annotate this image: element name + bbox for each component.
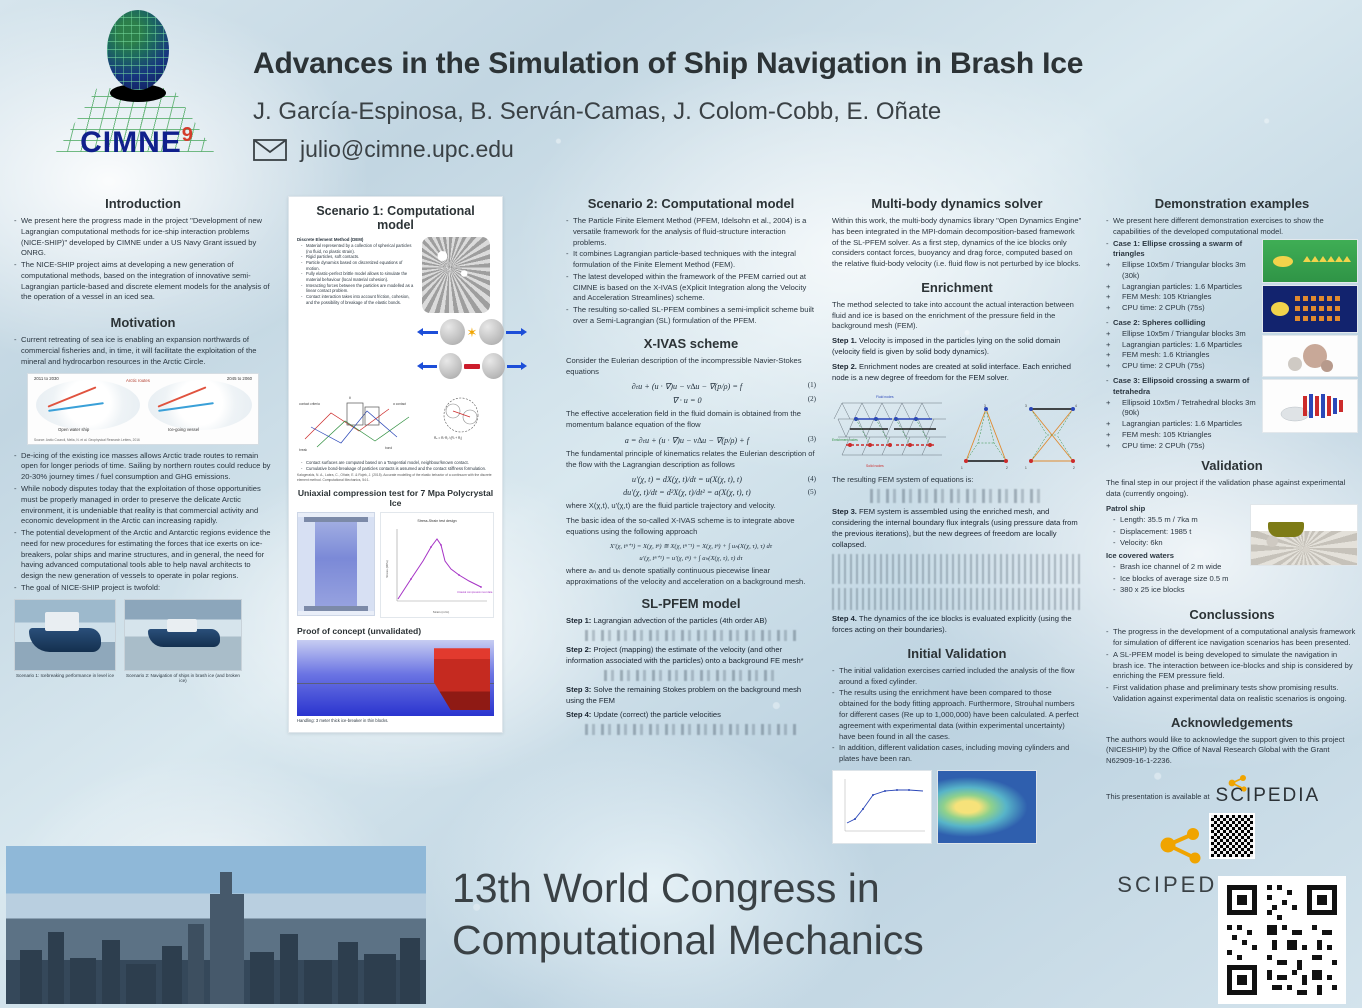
building-shape [102, 940, 120, 1004]
enrichment-mesh-figures: Fluid nodes Enrichment nodes Solid nodes… [832, 389, 1082, 471]
list-item: The NICE-SHIP project aims at developing… [14, 260, 272, 303]
qr-code-large[interactable] [1218, 876, 1346, 1004]
list-item: +FEM mesh: 1.6 Ktriangles [1122, 350, 1256, 361]
slpfem-step-2: Step 2: Project (mapping) the estimate o… [566, 645, 816, 667]
element-enrichment-diagram-b: 3412 [1021, 399, 1082, 471]
list-item: +Ellipse 10x5m / Triangular blocks 3m (3… [1122, 260, 1256, 282]
equation-number: (3) [808, 435, 816, 443]
svg-text:θ: θ [349, 396, 351, 400]
cimne-logo: CIMNE9 [52, 8, 217, 166]
enrichment-step-2: Step 2. Enrichment nodes are created at … [832, 362, 1082, 384]
list-item: A SL-PFEM model is being developed to si… [1106, 650, 1358, 682]
list-item: +Lagrangian particles: 1.6 Mparticles [1122, 419, 1256, 430]
step2-equation-image [604, 670, 779, 681]
svg-text:break: break [299, 448, 307, 452]
map-label-left: 2011 to 2030 [34, 376, 59, 381]
cimne-superscript: 9 [182, 124, 194, 146]
poc-caption: Handling: 3 meter thick ice-breaker in t… [297, 718, 494, 723]
building-shape [338, 942, 358, 1004]
list-item: Velocity: 6kn [1113, 538, 1244, 549]
list-item: The progress in the development of a com… [1106, 627, 1358, 649]
map-label-right: 2045 to 2060 [227, 376, 252, 381]
list-item: Case 1: Ellipse crossing a swarm of tria… [1106, 239, 1256, 314]
validation-intro: The final step in our project if the val… [1106, 478, 1358, 500]
xivas-intro: Consider the Eulerian description of the… [566, 356, 816, 378]
background-mesh-diagram: Fluid nodes Enrichment nodes Solid nodes [832, 389, 951, 471]
validation-group2-items: Brash ice channel of 2 m wide Ice blocks… [1113, 562, 1244, 596]
validation-heading: Validation [1106, 458, 1358, 473]
envelope-icon [253, 138, 287, 162]
congress-title-line1: 13th World Congress in [452, 862, 1152, 914]
list-item: 380 x 25 ice blocks [1113, 585, 1244, 596]
list-item: +CPU time: 2 CPUh (75s) [1122, 303, 1256, 314]
list-item: In addition, different validation cases,… [832, 743, 1082, 765]
text-basic-idea: The basic idea of the so-called X-IVAS s… [566, 516, 816, 538]
fem-system-intro: The resulting FEM system of equations is… [832, 475, 1082, 486]
equation-number: (1) [808, 381, 816, 389]
list-item: Cumulative bond-breakage of particles co… [301, 466, 494, 472]
step4-equation-image [585, 724, 798, 735]
congress-title-line2: Computational Mechanics [452, 914, 1152, 966]
case2-render [1262, 285, 1358, 333]
sphere-icon [482, 353, 505, 379]
enrichment-step-4: Step 4. The dynamics of the ice blocks i… [832, 614, 1082, 636]
contact-diagram-broken [422, 353, 522, 379]
case-items: +Ellipse 10x5m / Triangular blocks 3m +L… [1122, 329, 1256, 372]
equation-3: (3)a = ∂ₜu + (u · ∇)u − ν∆u − ∇(p/ρ) + f [566, 435, 816, 445]
xivas-heading: X-IVAS scheme [566, 336, 816, 351]
enrichment-heading: Enrichment [832, 280, 1082, 295]
step-number: Step 2. [832, 362, 857, 371]
list-item: +Ellipse 10x5m / Triangular blocks 3m [1122, 329, 1256, 340]
dem-contact-bullets: Contact surfaces are computed based on a… [301, 460, 494, 471]
proof-of-concept-image [297, 640, 494, 716]
photo-caption: Scenario 2: Navigation of ships in brash… [124, 673, 242, 684]
equation-body: ∂ₜu + (u · ∇)u − ν∆u − ∇(p/ρ) = f [632, 382, 743, 391]
case-items: +Ellipsoid 10x5m / Tetrahedral blocks 3m… [1122, 398, 1256, 452]
globe-icon [107, 10, 169, 90]
brash-ice-simulation-image [1250, 504, 1358, 566]
column-multibody: Multi-body dynamics solver Within this w… [832, 196, 1082, 844]
acknowledgements-text: The authors would like to acknowledge th… [1106, 735, 1358, 767]
list-item: It combines Lagrangian particle-based te… [566, 249, 816, 271]
step-number: Step 2: [566, 645, 591, 654]
contact-network-diagram: contact criteria θ α contact break bond [297, 391, 417, 453]
arctic-routes-map: 2011 to 2030 2045 to 2060 Arctic routes … [27, 373, 259, 445]
list-item: Interacting forces between the particles… [301, 283, 417, 294]
case-item-text: Lagrangian particles: 1.6 Mparticles [1122, 282, 1242, 291]
sphere-icon [440, 319, 465, 345]
equation-1: (1)∂ₜu + (u · ∇)u − ν∆u − ∇(p/ρ) = f [566, 381, 816, 391]
sphere-icon [479, 319, 504, 345]
matrix-equation-image-2 [832, 588, 1082, 610]
step-text: Velocity is imposed in the particles lyi… [832, 336, 1060, 356]
step-number: Step 3. [832, 507, 857, 516]
initial-validation-heading: Initial Validation [832, 646, 1082, 661]
scenario1-card: Scenario 1: Computational model Discrete… [288, 196, 503, 733]
congress-title: 13th World Congress in Computational Mec… [452, 862, 1152, 967]
vorticity-field-image [937, 770, 1037, 844]
case2-spheres-render [1262, 335, 1358, 377]
svg-text:Uniaxial compression test data: Uniaxial compression test data [457, 590, 493, 594]
list-item: The latest developed within the framewor… [566, 272, 816, 304]
superstructure-shape [167, 619, 197, 632]
list-item: Material represented by a collection of … [301, 243, 417, 254]
validation-group1-items: Length: 35.5 m / 7ka m Displacement: 198… [1113, 515, 1244, 549]
svg-text:Stress (MPa): Stress (MPa) [385, 560, 389, 578]
svg-text:3: 3 [984, 404, 986, 408]
case1-render [1262, 239, 1358, 283]
svg-text:Strain (m/m): Strain (m/m) [433, 610, 450, 614]
cylinder-core [315, 519, 358, 607]
equation-number: (4) [808, 475, 816, 483]
building-shape [162, 946, 182, 1004]
list-item: We present here the progress made in the… [14, 216, 272, 259]
list-item: The resulting so-called SL-PFEM combines… [566, 305, 816, 327]
step-number: Step 3: [566, 685, 591, 694]
case-title: Case 1: Ellipse crossing a swarm of tria… [1113, 239, 1242, 259]
scenario-photos: Scenario 1: Icebreaking performance in l… [14, 599, 272, 684]
conclusions-bullets: The progress in the development of a com… [1106, 627, 1358, 704]
cylinder-simulation-image [297, 512, 375, 616]
equation-6: X′(χ, tⁿ⁺¹) = X(χ, tⁿ) ≅ X(χ, tⁿ⁻¹) = X(… [566, 542, 816, 550]
introduction-heading: Introduction [14, 196, 272, 211]
photo-caption: Scenario 1: Icebreaking performance in l… [14, 673, 116, 679]
step-text: The dynamics of the ice blocks is evalua… [832, 614, 1072, 634]
empire-state-spire [220, 872, 232, 1004]
element-enrichment-diagram-a: 312 [956, 399, 1016, 471]
equation-number: (2) [808, 395, 816, 403]
list-item: +Lagrangian particles: 1.6 Mparticles [1122, 340, 1256, 351]
tetrahedra-swarm-svg [1263, 380, 1359, 434]
svg-text:2: 2 [1006, 466, 1008, 470]
author-list: J. García-Espinosa, B. Serván-Camas, J. … [253, 98, 1313, 126]
scenario1-bullets2: Contact surfaces are computed based on a… [297, 460, 494, 482]
motivation-bullets-bottom: De-icing of the existing ice masses allo… [14, 451, 272, 594]
svg-text:Enrichment nodes: Enrichment nodes [832, 438, 858, 442]
validation-group1-title: Patrol ship [1106, 504, 1244, 515]
list-item: Case 2: Spheres colliding +Ellipse 10x5m… [1106, 318, 1256, 372]
step-text: Lagrangian advection of the particles (4… [593, 616, 767, 625]
svg-text:3: 3 [1025, 404, 1027, 408]
fem-system-equation-image [870, 489, 1045, 503]
equation-body: a = ∂ₜu + (u · ∇)u − ν∆u − ∇(p/ρ) + f [625, 436, 749, 445]
scipedia-availability: This presentation is available at SCIPED… [1106, 785, 1358, 807]
poster-header: CIMNE9 Advances in the Simulation of Shi… [0, 0, 1362, 182]
list-item: The results using the enrichment have be… [832, 688, 1082, 742]
case-item-text: FEM mesh: 105 Ktriangles [1122, 430, 1211, 439]
map-source: Source: Arctic Council, Melia, N. et al.… [34, 438, 140, 442]
scipedia-wordmark[interactable]: SCIPEDIA [1216, 785, 1321, 807]
list-item: +FEM mesh: 105 Ktriangles [1122, 430, 1256, 441]
dem-particle-cluster-image [422, 237, 490, 313]
building-shape [188, 924, 204, 1004]
motivation-heading: Motivation [14, 315, 272, 330]
list-item: The initial validation exercises carried… [832, 666, 1082, 688]
equation-body: du′(χ, t)/dt = d²X(χ, t)/dt² = a(X(χ, t)… [623, 488, 751, 497]
building-shape [126, 964, 156, 1004]
case-item-text: CPU time: 2 CPUh (75s) [1122, 303, 1205, 312]
text-after-eq3: The fundamental principle of kinematics … [566, 449, 816, 471]
qr-pattern-large [1222, 880, 1342, 1000]
initial-validation-bullets: The initial validation exercises carried… [832, 666, 1082, 765]
cylinder-bottom-plate [304, 606, 368, 611]
list-item: Contact interaction takes into account f… [301, 294, 417, 305]
demonstration-heading: Demonstration examples [1106, 196, 1358, 211]
bond-bar-icon [464, 364, 480, 369]
city-skyline-photo [6, 846, 426, 1004]
building-shape [250, 952, 274, 1004]
demonstration-cases-row: Case 1: Ellipse crossing a swarm of tria… [1106, 239, 1358, 453]
map-label-mid: Arctic routes [126, 378, 150, 383]
scipedia-note: This presentation is available at [1106, 792, 1210, 801]
equation-number: (5) [808, 488, 816, 496]
building-shape [20, 950, 42, 1004]
hull-shape [29, 628, 101, 652]
svg-text:α contact: α contact [393, 402, 406, 406]
step-text: Enrichment nodes are created at solid in… [832, 362, 1071, 382]
scenario2-heading: Scenario 2: Computational model [566, 196, 816, 211]
case-item-text: Ellipse 10x5m / Triangular blocks 3m (30… [1122, 260, 1246, 280]
ice-field [1251, 531, 1357, 565]
step-number: Step 4: [566, 710, 591, 719]
arrow-right-icon [506, 331, 522, 334]
case-items: +Ellipse 10x5m / Triangular blocks 3m (3… [1122, 260, 1256, 314]
building-shape [400, 938, 420, 1004]
scenario1-reference: Kalogerakis, N. A., Labra, C., Oñate, E.… [297, 473, 494, 482]
scipedia-logo-icon [1155, 827, 1207, 867]
case-item-text: CPU time: 2 CPUh (75s) [1122, 361, 1205, 370]
case-title: Case 3: Ellipsoid crossing a swarm of te… [1113, 376, 1249, 396]
svg-text:Rₑ = Rᵢ·Rⱼ / (Rᵢ + Rⱼ): Rₑ = Rᵢ·Rⱼ / (Rᵢ + Rⱼ) [434, 436, 462, 440]
building-shape [304, 960, 332, 1004]
sphere-icon [439, 353, 462, 379]
brash-ice-photo [124, 599, 242, 671]
text-after-eq2: The effective acceleration field in the … [566, 409, 816, 431]
strouhal-svg [833, 771, 931, 843]
case2-blocks [1263, 286, 1359, 334]
multibody-heading: Multi-body dynamics solver [832, 196, 1082, 211]
contact-diagram-cohesive: ✶ [422, 319, 522, 345]
icebreaker-photo [14, 599, 116, 671]
contact-row: julio@cimne.upc.edu [253, 136, 514, 163]
svg-text:4: 4 [1075, 404, 1077, 408]
multibody-text: Within this work, the multi-body dynamic… [832, 216, 1082, 270]
slpfem-step-3: Step 3: Solve the remaining Stokes probl… [566, 685, 816, 707]
list-item: Ice blocks of average size 0.5 m [1113, 574, 1244, 585]
case-item-text: Ellipse 10x5m / Triangular blocks 3m [1122, 329, 1246, 338]
contact-sphere-diagram: Rₑ = Rᵢ·Rⱼ / (Rᵢ + Rⱼ) [428, 391, 494, 443]
matrix-equation-image [832, 554, 1082, 584]
equation-7: u′(χ, tⁿ⁺¹) = u′(χ, tⁿ) + ∫ aₕ(X(χ, τ), … [566, 554, 816, 562]
case-item-text: Lagrangian particles: 1.6 Mparticles [1122, 419, 1242, 428]
stress-strain-plot: Stress-Strain test design Strain (m/m) S… [380, 512, 494, 618]
text-after-eq5: where X(χ,t), u′(χ,t) are the fluid part… [566, 501, 816, 512]
scipedia-dots-icon [1227, 775, 1249, 793]
slpfem-step-4: Step 4: Update (correct) the particle ve… [566, 710, 816, 721]
list-item: Current retreating of sea ice is enablin… [14, 335, 272, 367]
demonstration-cases-text: Case 1: Ellipse crossing a swarm of tria… [1106, 239, 1256, 453]
list-item: Case 3: Ellipsoid crossing a swarm of te… [1106, 376, 1256, 451]
validation-group2-title: Ice covered waters [1106, 551, 1244, 562]
list-item: De-icing of the existing ice masses allo… [14, 451, 272, 483]
equation-4: (4)u′(χ, t) = dX(χ, t)/dt = u(X(χ, t), t… [566, 475, 816, 484]
scenario2-bullets: The Particle Finite Element Method (PFEM… [566, 216, 816, 327]
list-item: We present here different demonstration … [1106, 216, 1358, 238]
list-item: +CPU time: 2 CPUh (75s) [1122, 441, 1256, 452]
cimne-text: CIMNE [80, 126, 182, 159]
svg-text:1: 1 [1025, 466, 1027, 470]
step-number: Step 1: [566, 616, 591, 625]
uniaxial-test-figures: Stress-Strain test design Strain (m/m) S… [297, 512, 494, 618]
svg-text:Stress-Strain test design: Stress-Strain test design [417, 519, 456, 523]
svg-text:contact criteria: contact criteria [299, 402, 320, 406]
enrichment-step-1: Step 1. Velocity is imposed in the parti… [832, 336, 1082, 358]
demonstration-intro: We present here different demonstration … [1106, 216, 1358, 238]
list-item: Displacement: 1985 t [1113, 527, 1244, 538]
contact-email: julio@cimne.upc.edu [300, 136, 514, 163]
cylinder-top-plate [304, 517, 368, 522]
equation-body: ∇ · u = 0 [672, 396, 701, 405]
map-caption-left: Open water ship [58, 427, 89, 432]
page-title: Advances in the Simulation of Ship Navig… [253, 47, 1313, 81]
column-introduction: Introduction We present here the progres… [14, 196, 272, 684]
uniaxial-test-heading: Uniaxial compression test for 7 Mpa Poly… [297, 488, 494, 508]
list-item: The potential development of the Arctic … [14, 528, 272, 582]
column-scenario2: Scenario 2: Computational model The Part… [566, 196, 816, 738]
spheres-svg [1263, 336, 1359, 378]
map-caption-right: Ice-going vessel [168, 427, 199, 432]
step-number: Step 1. [832, 336, 857, 345]
arrow-right-icon [507, 365, 522, 368]
list-item: +Lagrangian particles: 1.6 Mparticles [1122, 282, 1256, 293]
step-text: Project (mapping) the estimate of the ve… [566, 645, 804, 665]
case3-render [1262, 379, 1358, 433]
building-shape [70, 958, 96, 1004]
step-text: FEM system is assembled using the enrich… [832, 507, 1078, 548]
equation-2: (2)∇ · u = 0 [566, 395, 816, 405]
case-item-text: FEM mesh: 1.6 Ktriangles [1122, 350, 1209, 359]
step-text: Solve the remaining Stokes problem on th… [566, 685, 801, 705]
introduction-bullets: We present here the progress made in the… [14, 216, 272, 303]
cimne-wordmark: CIMNE9 [62, 124, 212, 160]
list-item: +FEM Mesh: 105 Ktriangles [1122, 292, 1256, 303]
step-text: Update (correct) the particle velocities [593, 710, 720, 719]
case-item-text: Lagrangian particles: 1.6 Mparticles [1122, 340, 1242, 349]
svg-text:2: 2 [1073, 466, 1075, 470]
list-item: First validation phase and preliminary t… [1106, 683, 1358, 705]
list-item: +CPU time: 2 CPUh (75s) [1122, 361, 1256, 372]
slpfem-heading: SL-PFEM model [566, 596, 816, 611]
stress-strain-svg: Stress-Strain test design Strain (m/m) S… [381, 513, 493, 617]
arrow-left-icon [422, 365, 437, 368]
validation-specs: Patrol ship Length: 35.5 m / 7ka m Displ… [1106, 504, 1244, 597]
column-scenario1: Scenario 1: Computational model Discrete… [288, 196, 503, 733]
list-item: Particle dynamics based on discretized e… [301, 260, 417, 271]
demonstration-images [1262, 239, 1358, 453]
case1-triangles [1263, 240, 1359, 284]
svg-text:Fluid nodes: Fluid nodes [876, 395, 894, 399]
conclusions-heading: Conclussions [1106, 607, 1358, 622]
building-shape [280, 934, 298, 1004]
scenario1-heading: Scenario 1: Computational model [297, 204, 494, 232]
arrow-left-icon [422, 331, 438, 334]
superstructure-shape [45, 612, 79, 630]
case-item-text: FEM Mesh: 105 Ktriangles [1122, 292, 1211, 301]
poster-footer: 13th World Congress in Computational Mec… [0, 840, 1362, 1008]
ship-hull-render [434, 648, 490, 710]
building-shape [48, 932, 64, 1004]
dem-bullets: Material represented by a collection of … [301, 243, 417, 305]
proof-of-concept-heading: Proof of concept (unvalidated) [297, 626, 494, 636]
equation-5: (5)du′(χ, t)/dt = d²X(χ, t)/dt² = a(X(χ,… [566, 488, 816, 497]
list-item: +Ellipsoid 10x5m / Tetrahedral blocks 3m… [1122, 398, 1256, 420]
case-title: Case 2: Spheres colliding [1113, 318, 1205, 327]
enrichment-step-3: Step 3. FEM system is assembled using th… [832, 507, 1082, 550]
slpfem-step-1: Step 1: Lagrangian advection of the part… [566, 616, 816, 627]
list-item: The Particle Finite Element Method (PFEM… [566, 216, 816, 248]
contact-star-icon: ✶ [467, 326, 478, 339]
equation-body: u′(χ, t) = dX(χ, t)/dt = u(X(χ, t), t) [632, 475, 742, 484]
dem-subtitle: Discrete Element Method (DEM) [297, 237, 363, 242]
scenario1-dem-text: Discrete Element Method (DEM) Material r… [297, 237, 417, 387]
list-item: While nobody disputes today that the exp… [14, 484, 272, 527]
validation-figures [832, 770, 1082, 844]
enrichment-text: The method selected to take into account… [832, 300, 1082, 332]
case-list: Case 1: Ellipse crossing a swarm of tria… [1106, 239, 1256, 452]
svg-text:1: 1 [961, 466, 963, 470]
svg-text:bond: bond [385, 446, 392, 450]
text-where-approximations: where aₕ and uₕ denote spatially continu… [566, 566, 816, 588]
acknowledgements-heading: Acknowledgements [1106, 715, 1358, 730]
list-item: Fully elastic-perfect brittle model allo… [301, 271, 417, 282]
svg-text:Solid nodes: Solid nodes [866, 464, 884, 468]
case-item-text: Ellipsoid 10x5m / Tetrahedral blocks 3m … [1122, 398, 1256, 418]
step1-equation-image [585, 630, 798, 641]
motivation-bullets-top: Current retreating of sea ice is enablin… [14, 335, 272, 367]
strouhal-plot [832, 770, 932, 844]
case-item-text: CPU time: 2 CPUh (75s) [1122, 441, 1205, 450]
building-shape [364, 954, 396, 1004]
patrol-ship-shape [1268, 522, 1304, 538]
list-item: Length: 35.5 m / 7ka m [1113, 515, 1244, 526]
list-item: Brash ice channel of 2 m wide [1113, 562, 1244, 573]
column-demonstration: Demonstration examples We present here d… [1106, 196, 1358, 859]
list-item: The goal of NICE-SHIP project is twofold… [14, 583, 272, 594]
step-number: Step 4. [832, 614, 857, 623]
